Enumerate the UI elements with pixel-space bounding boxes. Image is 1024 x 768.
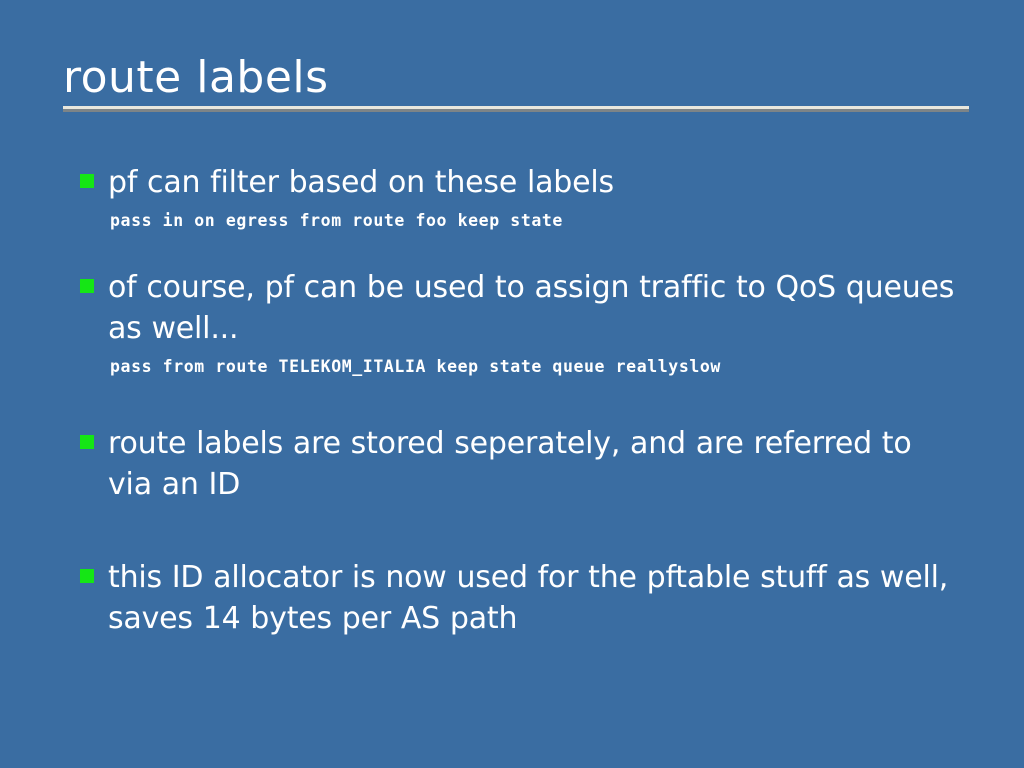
title-underline-rule	[63, 106, 969, 112]
code-example: pass in on egress from route foo keep st…	[80, 209, 960, 233]
square-bullet-icon	[80, 569, 94, 583]
bullet-item: of course, pf can be used to assign traf…	[80, 267, 960, 349]
bullet-item: this ID allocator is now used for the pf…	[80, 557, 960, 639]
bullet-group: of course, pf can be used to assign traf…	[80, 267, 960, 379]
bullet-group: this ID allocator is now used for the pf…	[80, 557, 960, 639]
slide: route labels pf can filter based on thes…	[0, 0, 1024, 768]
code-example: pass from route TELEKOM_ITALIA keep stat…	[80, 355, 960, 379]
bullet-text: pf can filter based on these labels	[108, 165, 614, 200]
bullet-item: route labels are stored seperately, and …	[80, 423, 960, 505]
bullet-text: of course, pf can be used to assign traf…	[108, 270, 954, 346]
square-bullet-icon	[80, 174, 94, 188]
bullet-group: route labels are stored seperately, and …	[80, 423, 960, 505]
bullet-group: pf can filter based on these labels pass…	[80, 162, 960, 233]
square-bullet-icon	[80, 279, 94, 293]
title-block: route labels	[63, 52, 969, 112]
bullet-list: pf can filter based on these labels pass…	[80, 162, 960, 639]
bullet-item: pf can filter based on these labels	[80, 162, 960, 203]
bullet-text: route labels are stored seperately, and …	[108, 426, 912, 502]
square-bullet-icon	[80, 435, 94, 449]
page-title: route labels	[63, 52, 969, 104]
bullet-text: this ID allocator is now used for the pf…	[108, 560, 948, 636]
